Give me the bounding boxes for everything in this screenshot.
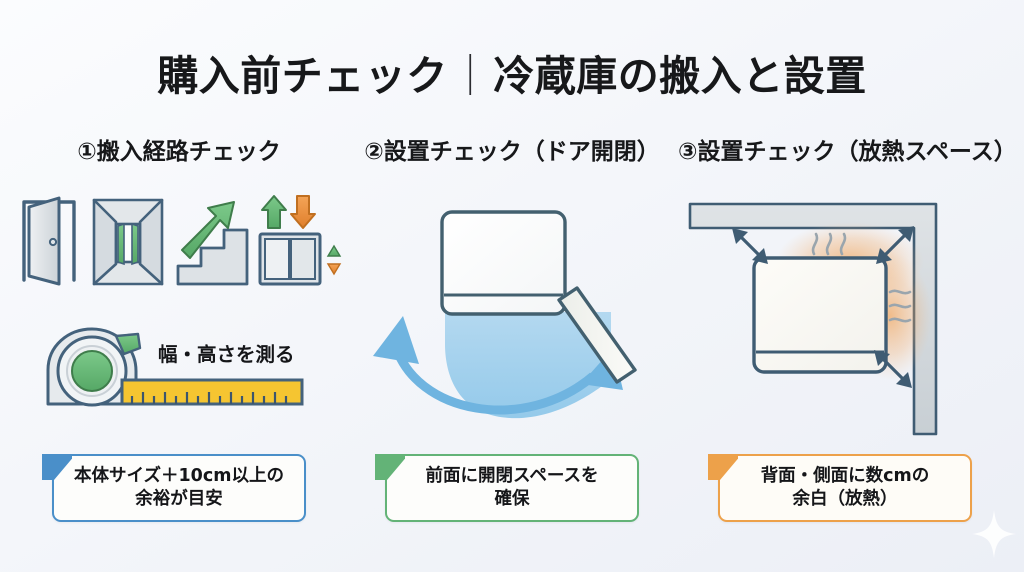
elevator-up-arrow-icon bbox=[262, 196, 286, 228]
column-3-heading: ③設置チェック（放熱スペース） bbox=[678, 132, 1012, 166]
caption-box-1: 本体サイズ＋10cm以上の 余裕が目安 bbox=[52, 454, 306, 522]
stairs-arrow-icon bbox=[178, 202, 247, 284]
open-door-icon bbox=[24, 198, 74, 284]
elevator-down-arrow-icon bbox=[291, 196, 315, 228]
caption-1-text: 本体サイズ＋10cm以上の 余裕が目安 bbox=[66, 465, 292, 512]
clearance-arrow-top-left bbox=[732, 228, 768, 264]
door-swing-illustration bbox=[345, 184, 679, 442]
measure-label: 幅・高さを測る bbox=[158, 338, 295, 367]
caption-box-3: 背面・側面に数cmの 余白（放熱） bbox=[718, 454, 972, 522]
title-main: 購入前チェック bbox=[157, 52, 448, 100]
sparkle-icon bbox=[972, 510, 1016, 558]
corner-tab-3 bbox=[708, 454, 738, 480]
column-carry-in-route: ①搬入経路チェック bbox=[12, 132, 346, 542]
column-1-heading: ①搬入経路チェック bbox=[12, 132, 346, 166]
heat-clearance-illustration bbox=[678, 184, 1012, 442]
title-divider: ｜ bbox=[448, 52, 494, 100]
hallway-perspective-icon bbox=[94, 200, 162, 284]
column-door-swing: ②設置チェック（ドア開閉） bbox=[345, 132, 679, 542]
title-sub: 冷蔵庫の搬入と設置 bbox=[493, 52, 867, 100]
elevator-indicator-icon bbox=[328, 246, 340, 274]
caption-3-line-2: 余白（放熱） bbox=[792, 489, 897, 509]
column-2-heading: ②設置チェック（ドア開閉） bbox=[345, 132, 679, 166]
caption-2-line-2: 確保 bbox=[495, 489, 530, 509]
caption-3-line-1: 背面・側面に数cmの bbox=[761, 466, 930, 486]
caption-1-line-1: 本体サイズ＋10cm以上の bbox=[74, 466, 284, 486]
corner-tab-2 bbox=[375, 454, 405, 480]
column-heat-clearance: ③設置チェック（放熱スペース） bbox=[678, 132, 1012, 542]
page-title: 購入前チェック｜冷蔵庫の搬入と設置 bbox=[0, 42, 1024, 102]
caption-2-line-1: 前面に開閉スペースを bbox=[426, 466, 599, 486]
slide-canvas: 購入前チェック｜冷蔵庫の搬入と設置 ①搬入経路チェック bbox=[0, 0, 1024, 572]
caption-3-text: 背面・側面に数cmの 余白（放熱） bbox=[753, 465, 938, 512]
caption-box-2: 前面に開閉スペースを 確保 bbox=[385, 454, 639, 522]
elevator-icon bbox=[260, 196, 340, 284]
fridge-topview-icon bbox=[442, 212, 565, 314]
caption-1-line-2: 余裕が目安 bbox=[135, 489, 223, 509]
carry-in-route-illustration: 幅・高さを測る bbox=[12, 184, 346, 442]
fridge-topview-icon bbox=[754, 258, 886, 372]
caption-2-text: 前面に開閉スペースを 確保 bbox=[418, 465, 607, 512]
